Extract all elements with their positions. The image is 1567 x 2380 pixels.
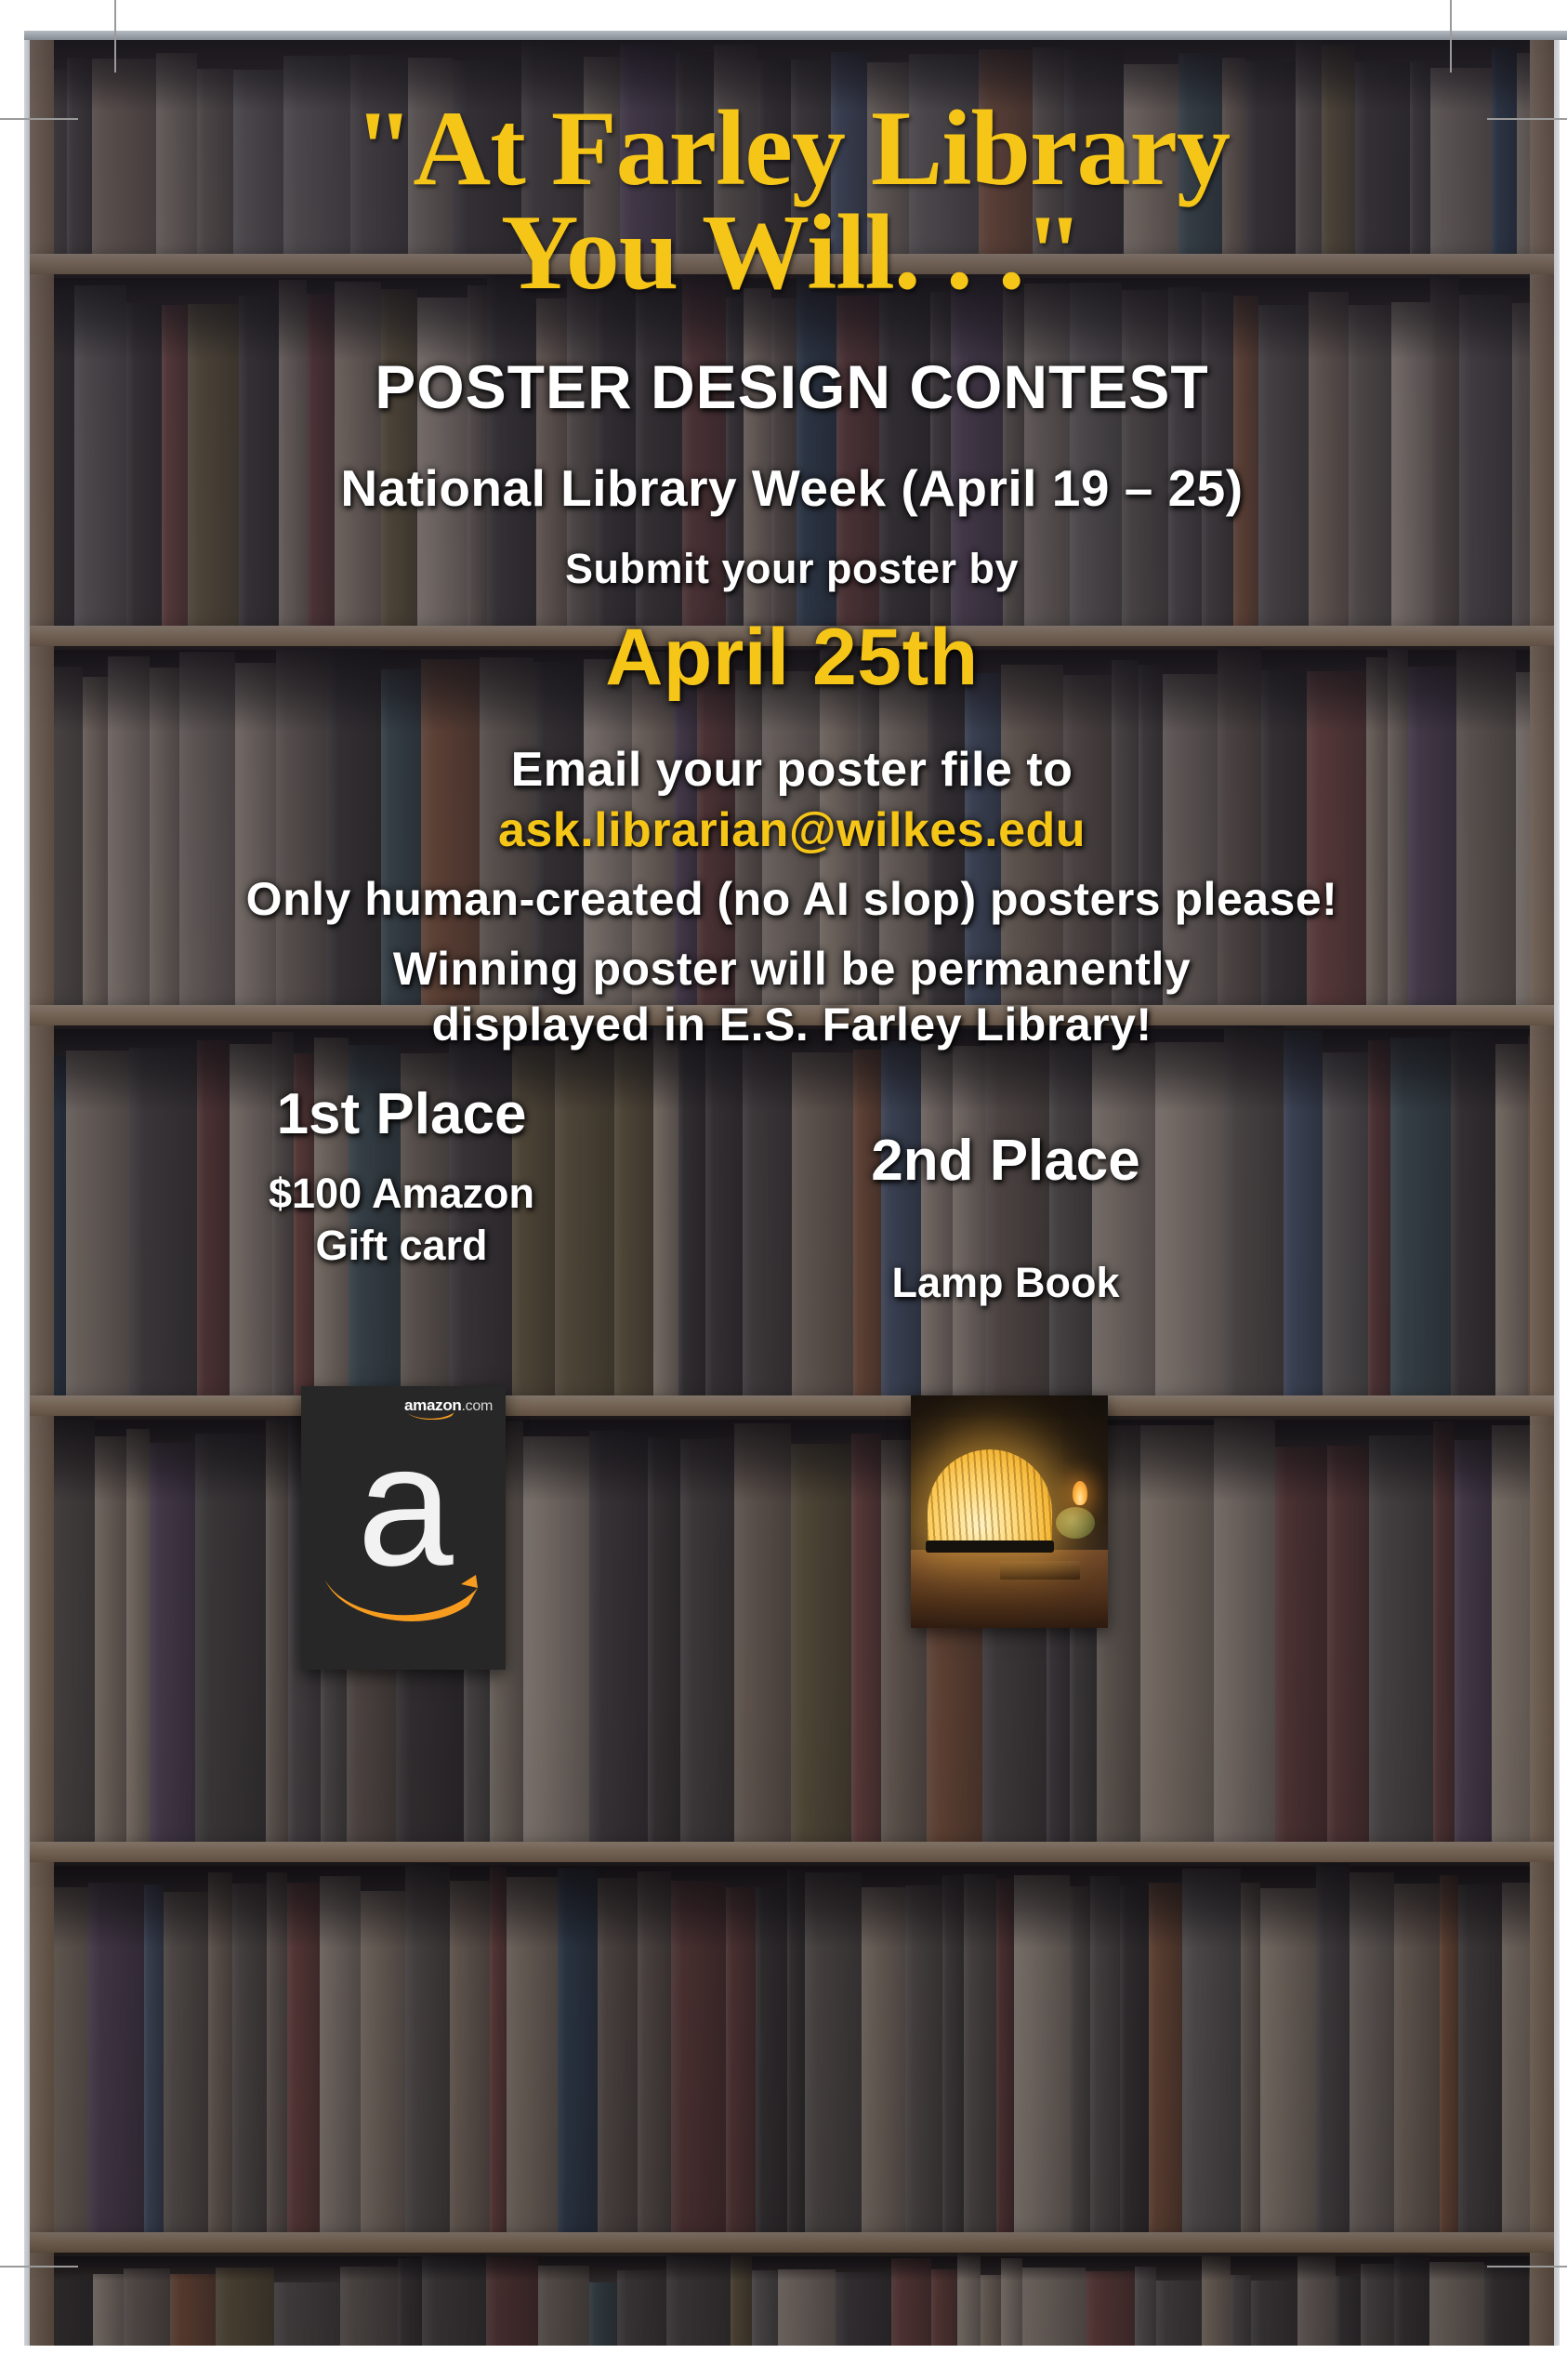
- first-place-block: 1st Place $100 Amazon Gift card: [160, 1081, 643, 1273]
- crop-mark-bottom-left-horizontal: [0, 2266, 78, 2268]
- amazon-smile-arrow-icon: [322, 1573, 485, 1631]
- national-library-week-line: National Library Week (April 19 – 25): [30, 458, 1554, 518]
- first-place-reward-line-1: $100 Amazon: [160, 1168, 643, 1220]
- poster-title-line-1: "At Farley Library: [30, 94, 1554, 204]
- left-edge-rule: [24, 40, 30, 2346]
- crop-mark-top-left-vertical: [114, 0, 116, 73]
- first-place-title: 1st Place: [160, 1081, 643, 1147]
- poster-page: "At Farley Library You Will. . ." POSTER…: [0, 0, 1567, 2380]
- poster-content: "At Farley Library You Will. . ." POSTER…: [30, 40, 1554, 2346]
- crop-mark-bottom-right-horizontal: [1487, 2266, 1567, 2268]
- display-notice-line-1: Winning poster will be permanently: [30, 942, 1554, 996]
- candle-flame: [1073, 1481, 1087, 1505]
- crop-mark-top-right-horizontal: [1487, 118, 1567, 120]
- no-ai-notice: Only human-created (no AI slop) posters …: [30, 872, 1554, 926]
- email-address[interactable]: ask.librarian@wilkes.edu: [30, 802, 1554, 858]
- poster-title-line-2: You Will. . .": [30, 198, 1554, 308]
- lamp-book-image: [911, 1395, 1108, 1628]
- right-edge-rule: [1554, 40, 1560, 2346]
- submit-prompt: Submit your poster by: [30, 545, 1554, 593]
- amazon-gift-card-image: amazon.com a: [301, 1386, 506, 1670]
- plant-prop: [1056, 1507, 1095, 1539]
- amazon-letter-a: a: [301, 1420, 506, 1593]
- glowing-book-pages: [928, 1449, 1052, 1546]
- crop-mark-top-right-vertical: [1450, 0, 1452, 73]
- second-place-reward-line-1: Lamp Book: [764, 1257, 1247, 1309]
- deadline-date: April 25th: [30, 612, 1554, 704]
- lamp-book-cover: [926, 1540, 1054, 1553]
- poster-artwork: "At Farley Library You Will. . ." POSTER…: [30, 40, 1554, 2346]
- second-place-title: 2nd Place: [764, 1128, 1247, 1194]
- second-place-block: 2nd Place Lamp Book: [764, 1128, 1247, 1309]
- contest-heading: POSTER DESIGN CONTEST: [30, 351, 1554, 422]
- display-notice-line-2: displayed in E.S. Farley Library!: [30, 998, 1554, 1051]
- top-ruler-bar: [24, 31, 1567, 40]
- first-place-reward-line-2: Gift card: [160, 1220, 643, 1272]
- closed-book-prop: [1000, 1561, 1080, 1580]
- email-prompt: Email your poster file to: [30, 742, 1554, 798]
- amazon-tld-text: .com: [462, 1398, 493, 1414]
- crop-mark-top-left-horizontal: [0, 118, 78, 120]
